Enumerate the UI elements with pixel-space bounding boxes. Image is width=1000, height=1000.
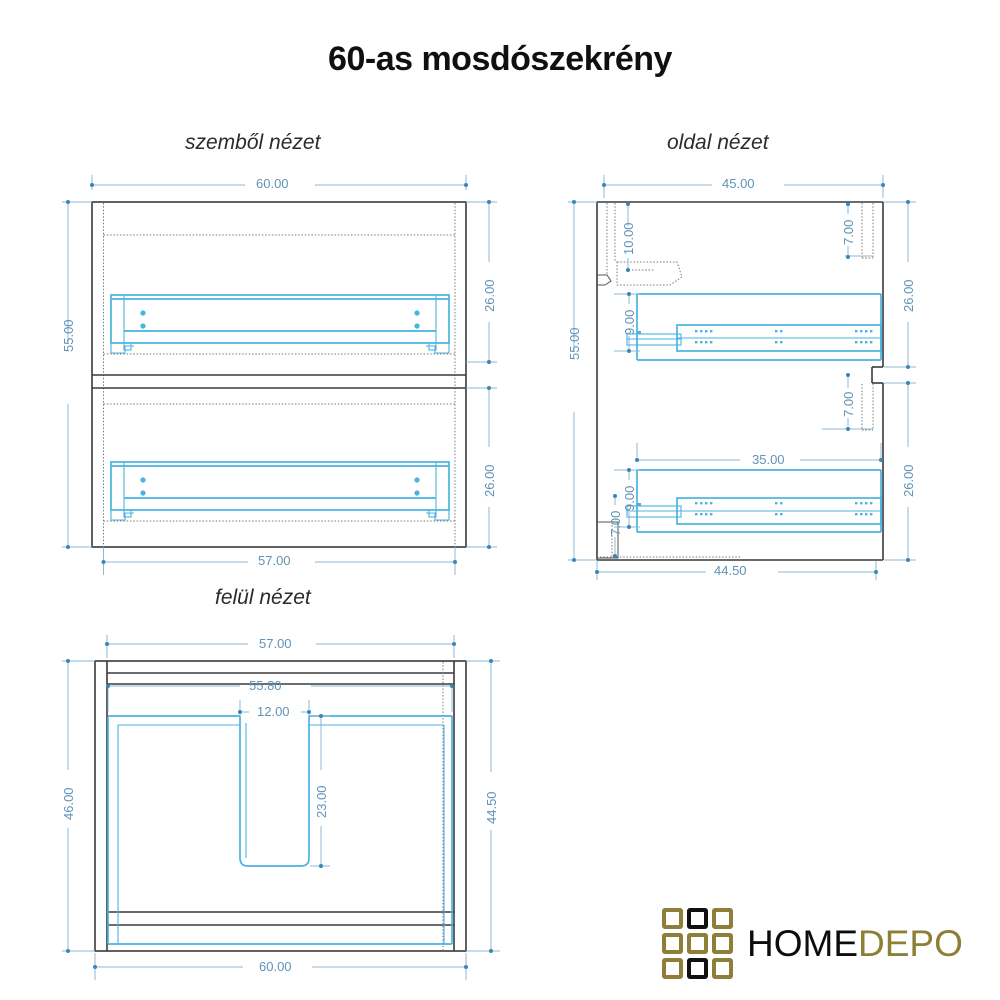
view-label-side: oldal nézet <box>667 131 769 155</box>
technical-drawing-page: 60-as mosdószekrény szemből nézet oldal … <box>0 0 1000 1000</box>
side-view-geometry <box>597 202 883 560</box>
front-view-geometry <box>92 202 466 547</box>
front-upper-drawer <box>104 295 456 354</box>
dim-top-57: 57.00 <box>259 636 292 651</box>
dim-top-5580: 55.80 <box>249 678 282 693</box>
brand-name: HOMEDEPO <box>747 925 963 962</box>
dim-side-height-55: 55.00 <box>567 327 582 360</box>
side-upper-drawer <box>627 294 881 360</box>
brand-logo: HOMEDEPO <box>662 908 963 979</box>
logo-cell-5 <box>687 933 708 954</box>
dim-top-23: 23.00 <box>314 785 329 818</box>
dim-side-7-top: 7.00 <box>841 220 856 245</box>
dim-front-width-57: 57.00 <box>258 553 291 568</box>
dim-top-46: 46.00 <box>61 787 76 820</box>
logo-grid-icon <box>662 908 733 979</box>
dim-top-4450: 44.50 <box>484 791 499 824</box>
page-title: 60-as mosdószekrény <box>0 40 1000 79</box>
brand-name-home: HOME <box>747 923 858 964</box>
dim-side-9-lower: 9.00 <box>622 486 637 511</box>
drawing-canvas: .ol { fill:none; stroke:#3a3a3a; stroke-… <box>0 0 1000 1000</box>
dim-front-height-55: 55.00 <box>61 319 76 352</box>
view-label-top: felül nézet <box>215 586 311 610</box>
side-lower-drawer <box>627 470 881 532</box>
logo-cell-9 <box>712 958 733 979</box>
dim-side-9-upper: 9.00 <box>622 310 637 335</box>
dim-top-12: 12.00 <box>257 704 290 719</box>
top-basin-outline <box>108 716 452 944</box>
dim-front-width-60: 60.00 <box>256 176 289 191</box>
view-label-front: szemből nézet <box>185 131 320 155</box>
logo-cell-1 <box>662 908 683 929</box>
dim-side-depth-4450: 44.50 <box>714 563 747 578</box>
dim-side-depth-45: 45.00 <box>722 176 755 191</box>
dim-side-lower-26: 26.00 <box>901 464 916 497</box>
logo-cell-4 <box>662 933 683 954</box>
logo-cell-2 <box>687 908 708 929</box>
dim-side-7-mid: 7.00 <box>841 392 856 417</box>
dim-front-lower-26: 26.00 <box>482 464 497 497</box>
dim-side-7-bottom: 7.00 <box>608 511 623 536</box>
dim-side-upper-26: 26.00 <box>901 279 916 312</box>
dim-front-upper-26: 26.00 <box>482 279 497 312</box>
front-view-dimensions <box>62 175 497 575</box>
brand-name-depo: DEPO <box>858 923 963 964</box>
front-lower-drawer <box>104 462 456 521</box>
dim-side-35: 35.00 <box>752 452 785 467</box>
logo-cell-8 <box>687 958 708 979</box>
dim-top-60: 60.00 <box>259 959 292 974</box>
dim-side-10: 10.00 <box>621 222 636 255</box>
logo-cell-3 <box>712 908 733 929</box>
logo-cell-7 <box>662 958 683 979</box>
logo-cell-6 <box>712 933 733 954</box>
